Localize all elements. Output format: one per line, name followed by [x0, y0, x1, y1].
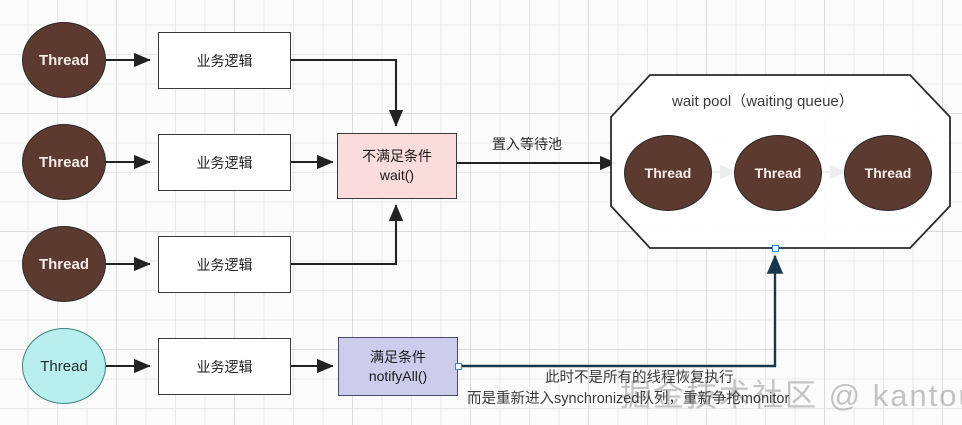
wait-pool-title: wait pool（waiting queue） — [672, 90, 854, 111]
connector-handle-source[interactable] — [455, 363, 462, 370]
pool-thread-2-label: Thread — [755, 165, 802, 181]
edge-biz1-to-wait — [291, 60, 396, 126]
notify-box-line1: 满足条件 — [370, 348, 426, 367]
connector-handle-target[interactable] — [772, 245, 779, 252]
thread-circle-4-notifier[interactable]: Thread — [22, 328, 106, 404]
thread-circle-3[interactable]: Thread — [22, 226, 106, 302]
edge-notify-to-pool[interactable] — [458, 256, 775, 366]
edge-biz3-to-wait — [291, 205, 396, 264]
pool-thread-1-label: Thread — [645, 165, 692, 181]
note-line-2: 而是重新进入synchronized队列，重新争抢monitor — [467, 389, 789, 410]
thread-circle-2-label: Thread — [39, 154, 89, 171]
explanatory-note: 此时不是所有的线程恢复执行 而是重新进入synchronized队列，重新争抢m… — [545, 368, 789, 410]
thread-circle-1-label: Thread — [39, 52, 89, 69]
connector-layer — [0, 0, 962, 425]
thread-circle-4-label: Thread — [40, 358, 88, 375]
business-logic-box-4[interactable]: 业务逻辑 — [158, 338, 291, 395]
thread-circle-3-label: Thread — [39, 256, 89, 273]
pool-thread-1[interactable]: Thread — [624, 135, 712, 211]
pool-thread-3[interactable]: Thread — [844, 135, 932, 211]
thread-circle-1[interactable]: Thread — [22, 22, 106, 98]
edge-label-enter-wait-pool: 置入等待池 — [492, 134, 562, 154]
business-logic-box-1-label: 业务逻辑 — [197, 51, 253, 71]
business-logic-box-3-label: 业务逻辑 — [197, 255, 253, 275]
wait-box-line2: wait() — [380, 166, 414, 185]
notify-box-line2: notifyAll() — [369, 367, 427, 386]
thread-circle-2[interactable]: Thread — [22, 124, 106, 200]
wait-condition-box[interactable]: 不满足条件 wait() — [337, 133, 457, 199]
pool-thread-2[interactable]: Thread — [734, 135, 822, 211]
business-logic-box-3[interactable]: 业务逻辑 — [158, 236, 291, 293]
business-logic-box-1[interactable]: 业务逻辑 — [158, 32, 291, 89]
pool-thread-3-label: Thread — [865, 165, 912, 181]
diagram-canvas: Thread Thread Thread Thread 业务逻辑 业务逻辑 业务… — [0, 0, 962, 425]
business-logic-box-2-label: 业务逻辑 — [197, 153, 253, 173]
business-logic-box-4-label: 业务逻辑 — [197, 357, 253, 377]
notify-condition-box[interactable]: 满足条件 notifyAll() — [338, 337, 458, 396]
business-logic-box-2[interactable]: 业务逻辑 — [158, 134, 291, 191]
wait-box-line1: 不满足条件 — [362, 147, 432, 166]
note-line-1: 此时不是所有的线程恢复执行 — [545, 370, 734, 386]
